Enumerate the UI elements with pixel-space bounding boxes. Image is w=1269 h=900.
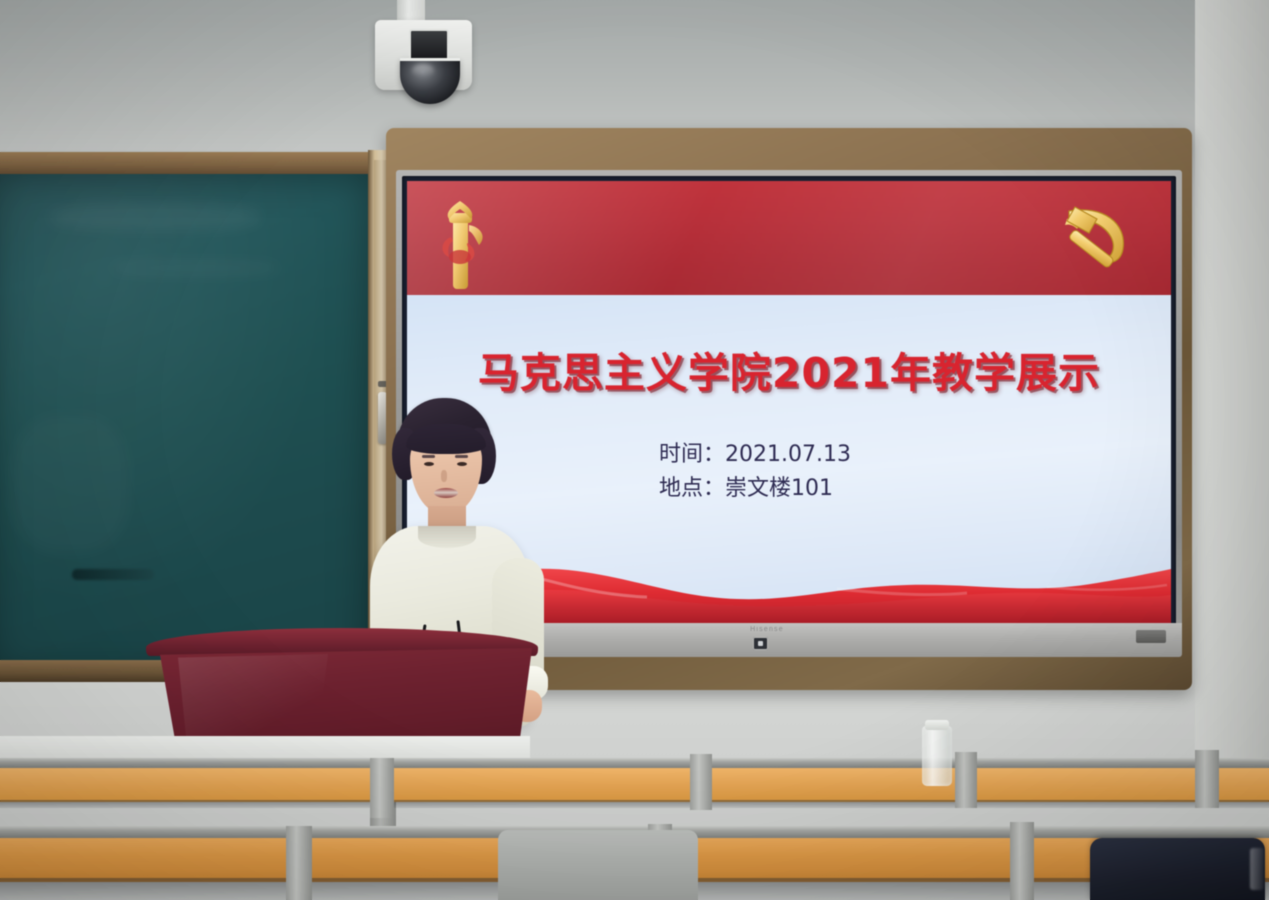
dark-bag bbox=[1090, 838, 1265, 900]
desk-leg bbox=[690, 754, 712, 810]
desk-shadow-back bbox=[0, 800, 1269, 808]
presenter-mouth bbox=[434, 488, 458, 498]
desk-rail-back bbox=[0, 758, 1269, 768]
bottle-cap bbox=[925, 720, 949, 730]
camera-dome-glare bbox=[412, 64, 434, 77]
presenter-eye-left bbox=[424, 462, 434, 466]
desk-leg bbox=[370, 758, 394, 818]
presenter-eyebrow-left bbox=[422, 455, 435, 458]
blackboard-frame-top bbox=[0, 152, 400, 176]
presenter-collar bbox=[418, 526, 476, 548]
classroom-photo-scene: 马克思主义学院2021年教学展示 时间：2021.07.13 地点：崇文楼101 bbox=[0, 0, 1269, 900]
chalk-smudge bbox=[110, 260, 280, 276]
power-icon bbox=[758, 641, 763, 646]
chalk-smudge bbox=[50, 204, 260, 230]
dark-bag-highlight bbox=[1250, 848, 1264, 890]
slide-subtitle-block: 时间：2021.07.13 地点：崇文楼101 bbox=[659, 438, 1171, 506]
display-io-port bbox=[1136, 630, 1166, 643]
hammer-and-sickle-emblem-icon bbox=[1053, 193, 1139, 277]
glass-water-bottle bbox=[922, 726, 952, 786]
display-brand-logo: Hisense bbox=[735, 626, 799, 636]
presenter-nose bbox=[441, 470, 447, 482]
desk-leg bbox=[955, 752, 977, 808]
presenter-eye-right bbox=[457, 462, 467, 466]
chalk-smudge bbox=[10, 414, 130, 554]
desk-leg bbox=[1010, 822, 1034, 900]
slide-subtitle-time: 时间：2021.07.13 bbox=[659, 438, 1171, 472]
desk-leg bbox=[1195, 750, 1219, 808]
desk-leg bbox=[286, 826, 312, 900]
chair-back bbox=[498, 830, 698, 900]
lectern-highlight bbox=[178, 654, 328, 746]
presenter-eyebrow-right bbox=[455, 455, 468, 458]
desk-panel-back bbox=[0, 768, 1269, 802]
golden-torch-ornament-icon bbox=[429, 197, 491, 293]
presenter-fringe bbox=[406, 424, 486, 454]
slide-title: 马克思主义学院2021年教学展示 bbox=[407, 339, 1171, 399]
green-chalkboard bbox=[0, 174, 368, 674]
slide-subtitle-location: 地点：崇文楼101 bbox=[659, 472, 1171, 506]
chalk-mark bbox=[72, 569, 154, 580]
wall-right-panel bbox=[1195, 0, 1269, 760]
